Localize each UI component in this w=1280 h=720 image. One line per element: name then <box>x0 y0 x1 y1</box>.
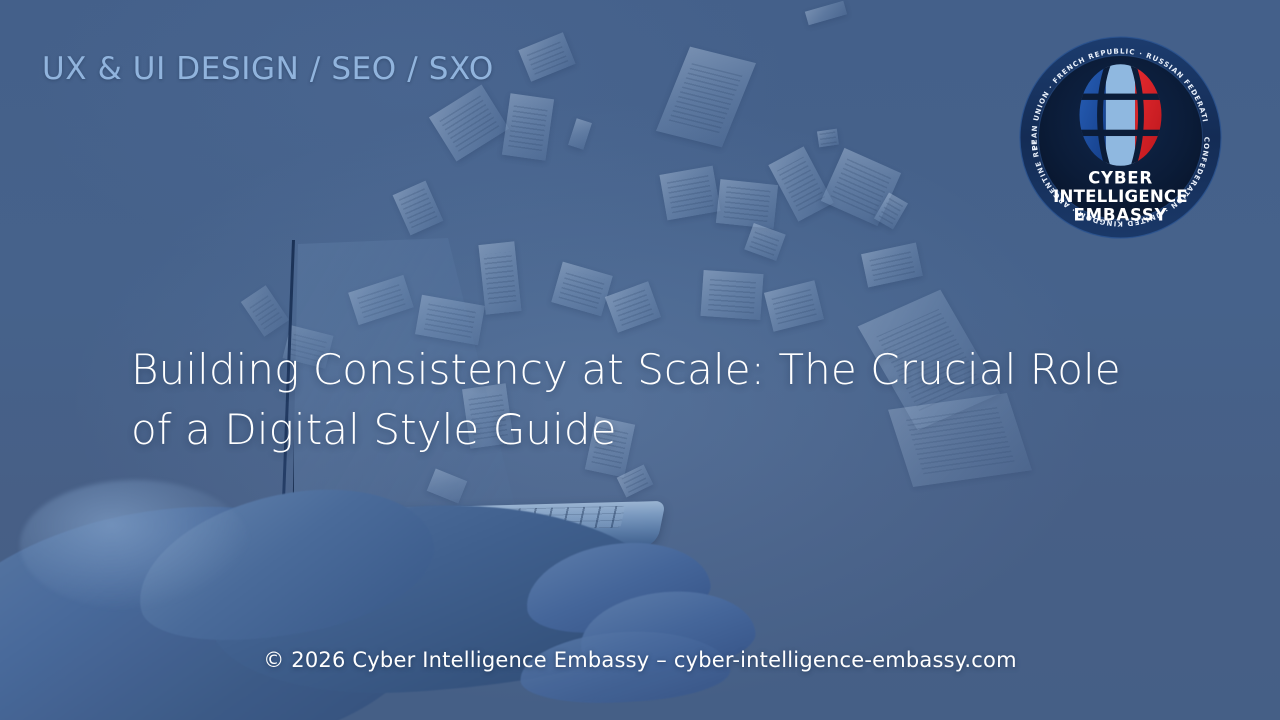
badge-wordmark-line2: INTELLIGENCE <box>1053 187 1188 206</box>
paper-sheet <box>393 181 444 236</box>
blog-cover-banner: UX & UI DESIGN / SEO / SXO Building Cons… <box>0 0 1280 720</box>
paper-sheet <box>764 280 824 331</box>
category-kicker: UX & UI DESIGN / SEO / SXO <box>42 51 494 87</box>
paper-sheet <box>817 129 839 148</box>
badge-wordmark-line3: EMBASSY <box>1074 205 1168 224</box>
paper-sheet <box>656 47 756 148</box>
paper-sheet <box>768 146 833 221</box>
paper-sheet <box>805 1 847 25</box>
paper-sheet <box>744 223 786 261</box>
paper-sheet <box>861 243 923 288</box>
paper-sheet <box>429 85 509 162</box>
paper-sheet <box>659 166 720 221</box>
paper-sheet <box>700 270 763 320</box>
hand-illustration <box>0 430 840 720</box>
badge-wordmark-line1: CYBER <box>1088 168 1153 187</box>
paper-sheet <box>502 93 554 161</box>
knuckle-highlight <box>20 480 250 610</box>
page-title: Building Consistency at Scale: The Cruci… <box>131 340 1121 459</box>
paper-sheet <box>716 179 778 229</box>
paper-sheet <box>518 32 575 82</box>
paper-sheet <box>568 118 592 150</box>
copyright-footer: © 2026 Cyber Intelligence Embassy – cybe… <box>0 648 1280 672</box>
cyber-intelligence-embassy-logo[interactable]: UNITED STATES OF AMERICA · EUROPEAN UNIO… <box>1018 30 1223 245</box>
